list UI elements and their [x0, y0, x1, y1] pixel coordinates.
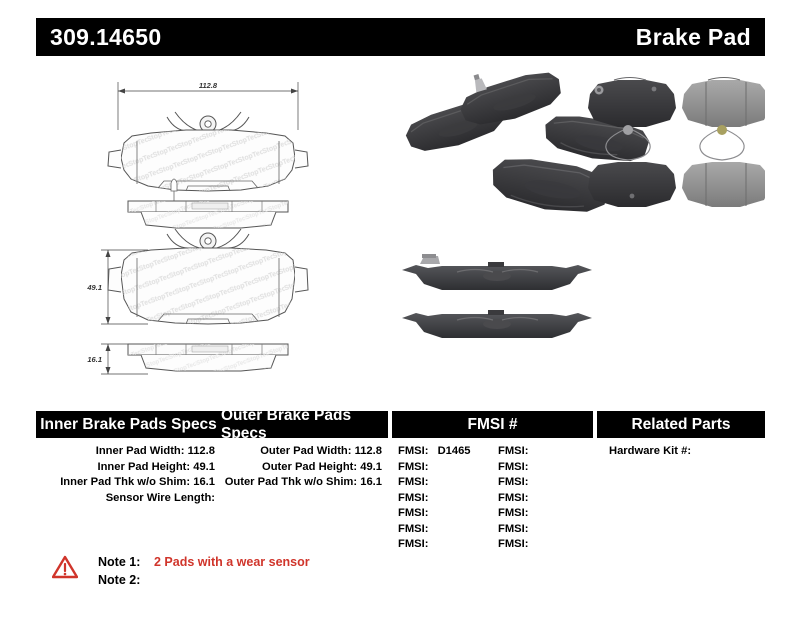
fmsi-value: [428, 523, 434, 535]
technical-drawing: StopTech StopTech 112.8: [36, 62, 386, 402]
fmsi-row: FMSI:: [392, 506, 492, 522]
spec-row: Outer Pad Height: 49.1: [221, 460, 388, 476]
fmsi-value: [428, 461, 434, 473]
fmsi-label: FMSI:: [498, 476, 528, 488]
brake-pad-drawing-svg: StopTech StopTech 112.8: [36, 62, 386, 402]
spec-table-header-row: Inner Brake Pads Specs Outer Brake Pads …: [36, 411, 765, 438]
spec-label: Sensor Wire Length:: [106, 492, 215, 504]
related-part-label: Hardware Kit #:: [609, 445, 691, 457]
fmsi-label: FMSI:: [398, 492, 428, 504]
spec-label: Outer Pad Height:: [262, 461, 357, 473]
fmsi-value: D1465: [432, 445, 471, 457]
fmsi-value: [528, 476, 534, 488]
fmsi-row: FMSI: D1465: [392, 444, 492, 460]
spec-row: Inner Pad Width: 112.8: [36, 444, 221, 460]
fmsi-row: FMSI:: [392, 522, 492, 538]
header-related-parts: Related Parts: [597, 411, 765, 438]
spec-row: Outer Pad Width: 112.8: [221, 444, 388, 460]
product-type: Brake Pad: [636, 24, 751, 51]
photo-group-edge-pads: [402, 254, 592, 338]
note-1-value: 2 Pads with a wear sensor: [154, 553, 310, 571]
note-1-row: Note 1: 2 Pads with a wear sensor: [98, 553, 310, 571]
spec-table-body-row: Inner Pad Width: 112.8 Inner Pad Height:…: [36, 444, 765, 553]
fmsi-subcolumn-1: FMSI: D1465 FMSI: FMSI: FMSI: FMSI:: [392, 444, 492, 553]
spec-value: 112.8: [188, 445, 215, 457]
fmsi-row: FMSI:: [392, 537, 492, 553]
dimension-thickness-label: 16.1: [87, 355, 102, 364]
column-outer-specs: Outer Pad Width: 112.8 Outer Pad Height:…: [221, 444, 388, 553]
fmsi-value: [528, 492, 534, 504]
spec-label: Inner Pad Height:: [97, 461, 190, 473]
fmsi-label: FMSI:: [398, 461, 428, 473]
fmsi-label: FMSI:: [498, 461, 528, 473]
fmsi-label: FMSI:: [398, 507, 428, 519]
fmsi-label: FMSI:: [498, 445, 528, 457]
spec-value: 112.8: [355, 445, 382, 457]
fmsi-value: [528, 523, 534, 535]
fmsi-row: FMSI:: [392, 491, 492, 507]
fmsi-label: FMSI:: [398, 523, 428, 535]
fmsi-value: [528, 507, 534, 519]
fmsi-row: FMSI:: [492, 491, 592, 507]
dimension-height-label: 49.1: [86, 283, 102, 292]
note-1-label: Note 1:: [98, 553, 148, 571]
fmsi-value: [528, 445, 534, 457]
fmsi-label: FMSI:: [498, 523, 528, 535]
header-inner-specs: Inner Brake Pads Specs: [36, 411, 221, 438]
related-part-row: Hardware Kit #:: [597, 444, 765, 460]
header-fmsi: FMSI #: [392, 411, 593, 438]
spec-value: 49.1: [360, 461, 382, 473]
column-fmsi: FMSI: D1465 FMSI: FMSI: FMSI: FMSI:: [392, 444, 593, 553]
fmsi-row: FMSI:: [392, 460, 492, 476]
spec-value: 16.1: [360, 476, 382, 488]
product-photos-svg: [388, 62, 765, 402]
warning-triangle-icon: [52, 555, 78, 579]
fmsi-label: FMSI:: [398, 476, 428, 488]
fmsi-row: FMSI:: [492, 460, 592, 476]
spec-row: Outer Pad Thk w/o Shim: 16.1: [221, 475, 388, 491]
pad-view-front-bottom: [108, 229, 308, 324]
pad-view-front-top: [108, 112, 308, 191]
retaining-clip-2: [700, 125, 744, 160]
dimension-width-label: 112.8: [199, 81, 218, 90]
fmsi-value: [528, 461, 534, 473]
fmsi-row: FMSI:: [492, 537, 592, 553]
column-inner-specs: Inner Pad Width: 112.8 Inner Pad Height:…: [36, 444, 221, 553]
spec-label: Outer Pad Width:: [260, 445, 351, 457]
spec-row: Inner Pad Height: 49.1: [36, 460, 221, 476]
spec-label: Inner Pad Thk w/o Shim:: [60, 476, 190, 488]
fmsi-row: FMSI:: [492, 522, 592, 538]
fmsi-row: FMSI:: [492, 475, 592, 491]
fmsi-row: FMSI:: [492, 506, 592, 522]
note-2-label: Note 2:: [98, 571, 148, 589]
notes-text-block: Note 1: 2 Pads with a wear sensor Note 2…: [98, 553, 310, 589]
product-photos: [388, 62, 765, 402]
pad-view-edge-bottom: [128, 344, 288, 371]
fmsi-label: FMSI:: [398, 445, 428, 457]
fmsi-row: FMSI:: [392, 475, 492, 491]
header-bar: 309.14650 Brake Pad: [36, 18, 765, 56]
spec-label: Outer Pad Thk w/o Shim:: [225, 476, 357, 488]
spec-row: Inner Pad Thk w/o Shim: 16.1: [36, 475, 221, 491]
fmsi-row: FMSI:: [492, 444, 592, 460]
fmsi-value: [428, 476, 434, 488]
part-number: 309.14650: [50, 24, 161, 51]
spec-label: Inner Pad Width:: [96, 445, 185, 457]
spec-row: Sensor Wire Length:: [36, 491, 221, 507]
fmsi-label: FMSI:: [498, 507, 528, 519]
fmsi-value: [528, 538, 534, 550]
header-outer-specs: Outer Brake Pads Specs: [221, 411, 388, 438]
fmsi-value: [428, 492, 434, 504]
column-related-parts: Hardware Kit #:: [597, 444, 765, 553]
fmsi-label: FMSI:: [498, 492, 528, 504]
note-2-row: Note 2:: [98, 571, 310, 589]
fmsi-value: [428, 507, 434, 519]
notes-section: Note 1: 2 Pads with a wear sensor Note 2…: [52, 553, 310, 589]
fmsi-label: FMSI:: [398, 538, 428, 550]
fmsi-subcolumn-2: FMSI: FMSI: FMSI: FMSI: FMSI:: [492, 444, 592, 553]
fmsi-label: FMSI:: [498, 538, 528, 550]
fmsi-value: [428, 538, 434, 550]
spec-value: 49.1: [193, 461, 215, 473]
spec-value: 16.1: [193, 476, 215, 488]
spec-table: Inner Brake Pads Specs Outer Brake Pads …: [36, 411, 765, 553]
